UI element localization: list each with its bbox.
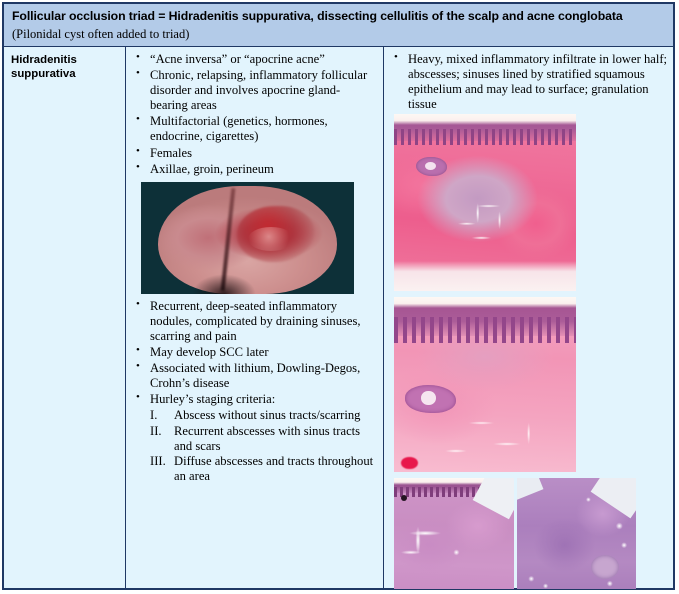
entity-name: Hidradenitis suppurativa xyxy=(11,53,121,82)
list-item: Recurrent, deep-seated inflammatory nodu… xyxy=(132,299,377,344)
list-item: Heavy, mixed inflammatory infiltrate in … xyxy=(390,52,669,112)
list-item: Multifactorial (genetics, hormones, endo… xyxy=(132,114,377,144)
list-item: “Acne inversa” or “apocrine acne” xyxy=(132,52,377,67)
photo-shadow xyxy=(192,274,256,294)
slide-background-top xyxy=(394,297,576,308)
clinical-features-cell: “Acne inversa” or “apocrine acne” Chroni… xyxy=(126,47,384,589)
list-item: May develop SCC later xyxy=(132,345,377,360)
table-row: Hidradenitis suppurativa “Acne inversa” … xyxy=(4,47,673,589)
sinus-tract xyxy=(416,157,447,176)
clinical-bullets-top: “Acne inversa” or “apocrine acne” Chroni… xyxy=(132,52,377,177)
list-item: Females xyxy=(132,146,377,161)
stage-text: Abscess without sinus tracts/scarring xyxy=(174,408,360,422)
sinus-tract xyxy=(405,385,456,413)
list-item: Associated with lithium, Dowling-Degos, … xyxy=(132,361,377,391)
hurley-stage-1: I. Abscess without sinus tracts/scarring xyxy=(150,408,377,423)
rete-ridges xyxy=(394,129,576,145)
histology-image-3 xyxy=(394,478,514,589)
slide-background-bottom xyxy=(394,261,576,291)
histology-cell: Heavy, mixed inflammatory infiltrate in … xyxy=(384,47,673,589)
histology-image-pair xyxy=(394,478,669,589)
list-item: Axillae, groin, perineum xyxy=(132,162,377,177)
hurley-stage-2: II. Recurrent abscesses with sinus tract… xyxy=(150,424,377,454)
photo-highlight xyxy=(248,227,295,252)
page-title: Follicular occlusion triad = Hidradeniti… xyxy=(12,8,667,25)
header-subtitle: (Pilonidal cyst often added to triad) xyxy=(12,26,667,42)
stage-numeral: II. xyxy=(150,424,171,439)
hemorrhage-focus xyxy=(401,457,417,469)
slide-background-top xyxy=(394,114,576,125)
stage-text: Diffuse abscesses and tracts throughout … xyxy=(174,454,373,483)
rete-ridges xyxy=(394,317,576,344)
stage-text: Recurrent abscesses with sinus tracts an… xyxy=(174,424,360,453)
table-header: Follicular occlusion triad = Hidradeniti… xyxy=(4,4,673,47)
hurley-stage-3: III. Diffuse abscesses and tracts throug… xyxy=(150,454,377,484)
histology-image-4 xyxy=(517,478,636,589)
disease-reference-table: Follicular occlusion triad = Hidradeniti… xyxy=(2,2,675,590)
histology-bullets: Heavy, mixed inflammatory infiltrate in … xyxy=(390,52,669,112)
clinical-photograph xyxy=(141,182,354,294)
histology-image-1 xyxy=(394,114,576,291)
stage-numeral: III. xyxy=(150,454,171,469)
clinical-bullets-bottom: Recurrent, deep-seated inflammatory nodu… xyxy=(132,299,377,484)
list-item-hurley: Hurley’s staging criteria: I. Abscess wi… xyxy=(132,392,377,484)
entity-name-cell: Hidradenitis suppurativa xyxy=(4,47,126,589)
stage-numeral: I. xyxy=(150,408,171,423)
hurley-stage-list: I. Abscess without sinus tracts/scarring… xyxy=(150,408,377,484)
hurley-label: Hurley’s staging criteria: xyxy=(150,392,275,406)
list-item: Chronic, relapsing, inflammatory follicu… xyxy=(132,68,377,113)
histology-image-2 xyxy=(394,297,576,472)
